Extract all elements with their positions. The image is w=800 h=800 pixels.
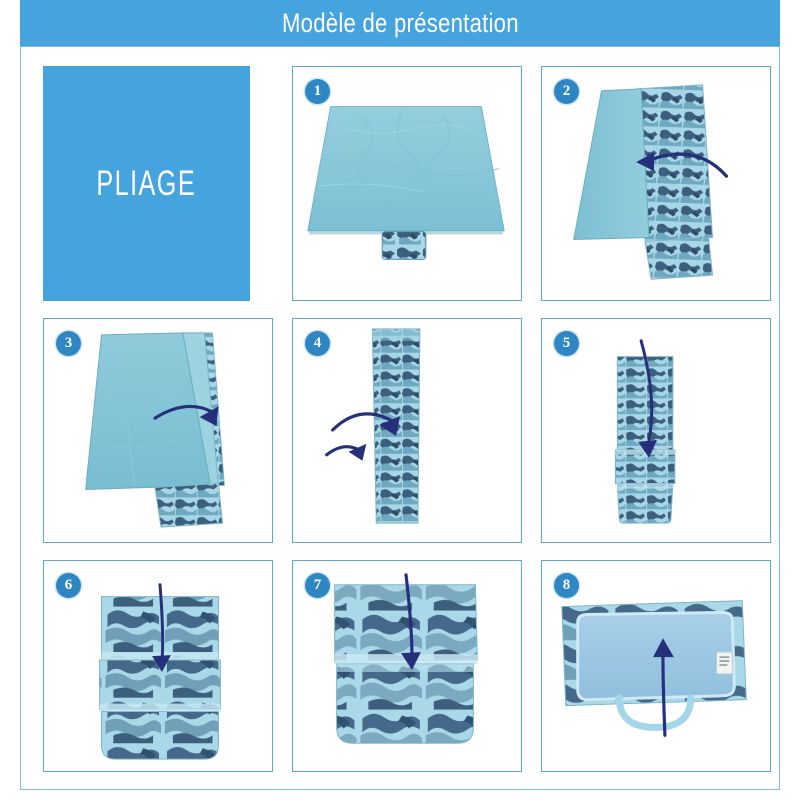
step-cell-4: 4	[292, 318, 522, 543]
product-label	[716, 652, 732, 674]
page-title: Modèle de présentation	[282, 8, 519, 39]
presentation-page: Modèle de présentation PLIAGE	[0, 0, 800, 800]
step-panel-2: 2	[541, 66, 771, 301]
fold-again-graphic	[44, 319, 272, 542]
step-badge-6: 6	[56, 573, 81, 598]
step-badge-8: 8	[554, 573, 579, 598]
step-cell-6: 6	[43, 560, 273, 772]
pliage-label: PLIAGE	[97, 164, 197, 204]
step-cell-1: 1	[292, 66, 522, 301]
step-cell-5: 5	[541, 318, 771, 543]
step-cell-3: 3	[43, 318, 273, 543]
header-banner: Modèle de présentation	[20, 0, 780, 46]
step-cell-8: 8	[541, 560, 771, 772]
step-panel-4: 4	[292, 318, 522, 543]
step-panel-7: 7	[292, 560, 522, 772]
fold-strip-down-graphic	[542, 319, 770, 542]
step-badge-4: 4	[305, 331, 330, 356]
step-panel-5: 5	[541, 318, 771, 543]
step-badge-5: 5	[554, 331, 579, 356]
step-cell-7: 7	[292, 560, 522, 772]
intro-cell: PLIAGE	[43, 66, 250, 301]
step-panel-8: 8	[541, 560, 771, 772]
step-panel-1: 1	[292, 66, 522, 301]
narrow-strip-graphic	[293, 319, 521, 542]
step-illustration-2	[542, 67, 770, 300]
fold-arrow-4b	[327, 444, 367, 461]
step-illustration-1	[293, 67, 521, 300]
step-badge-7: 7	[305, 573, 330, 598]
step-panel-6: 6	[43, 560, 273, 772]
step-illustration-4	[293, 319, 521, 542]
step-badge-2: 2	[554, 79, 579, 104]
step-illustration-3	[44, 319, 272, 542]
step-badge-1: 1	[305, 79, 330, 104]
steps-grid: PLIAGE	[20, 46, 780, 790]
step-cell-2: 2	[541, 66, 771, 301]
pliage-panel: PLIAGE	[43, 66, 250, 301]
step-panel-3: 3	[43, 318, 273, 543]
step-illustration-5	[542, 319, 770, 542]
blanket-flat-graphic	[293, 67, 521, 300]
step-badge-3: 3	[56, 331, 81, 356]
fold-side-over-graphic	[542, 67, 770, 300]
